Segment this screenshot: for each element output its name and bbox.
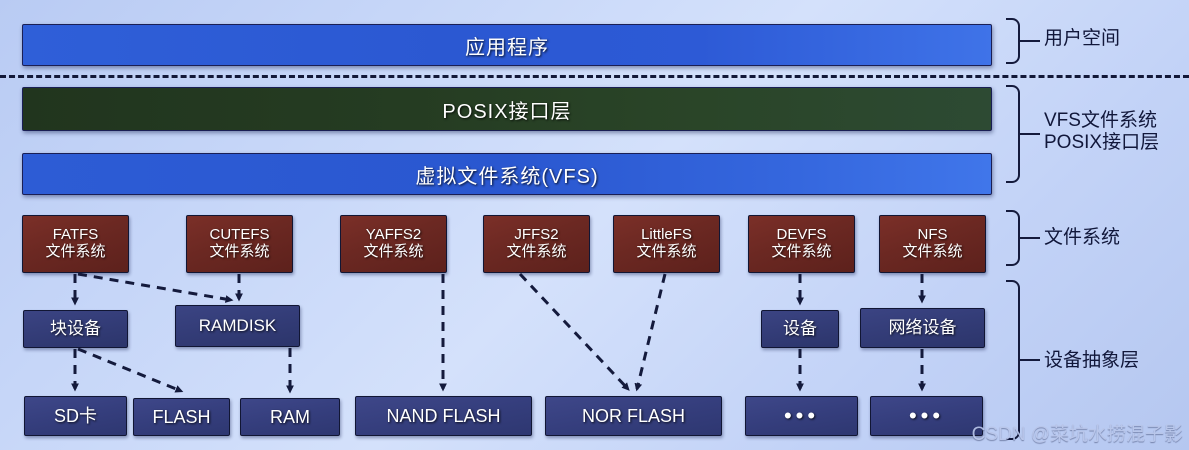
fs-box-littlefs-suffix: 文件系统 — [636, 244, 696, 261]
fs-box-littlefs[interactable]: LittleFS 文件系统 — [613, 215, 720, 273]
caption-user-space: 用户空间 — [1044, 28, 1120, 50]
fs-box-nfs-name: NFS — [918, 227, 948, 244]
bracket-vfs-stem — [1018, 133, 1040, 135]
device-box-block-device-label: 块设备 — [50, 319, 101, 338]
fs-box-devfs[interactable]: DEVFS 文件系统 — [748, 215, 855, 273]
device-box-device-label: 设备 — [783, 319, 817, 338]
hw-box-nor-flash-label: NOR FLASH — [582, 406, 685, 426]
arrow-block-device-to-flash — [78, 349, 181, 391]
device-box-network-device-label: 网络设备 — [889, 318, 957, 337]
diagram-canvas: 应用程序 POSIX接口层 虚拟文件系统(VFS) FATFS 文件系统 CUT… — [0, 0, 1189, 450]
hw-box-more-devices[interactable]: ••• — [745, 396, 858, 436]
caption-device-abstraction: 设备抽象层 — [1044, 350, 1139, 372]
hw-box-flash-label: FLASH — [152, 407, 210, 427]
fs-box-cutefs-suffix: 文件系统 — [209, 244, 269, 261]
hw-box-sd-card-label: SD卡 — [54, 406, 97, 426]
fs-box-devfs-suffix: 文件系统 — [771, 244, 831, 261]
layer-bar-posix[interactable]: POSIX接口层 — [22, 87, 992, 131]
fs-box-yaffs2-suffix: 文件系统 — [363, 244, 423, 261]
fs-box-fatfs-suffix: 文件系统 — [45, 244, 105, 261]
device-box-block-device[interactable]: 块设备 — [23, 310, 128, 348]
fs-box-fatfs[interactable]: FATFS 文件系统 — [22, 215, 129, 273]
fs-box-littlefs-name: LittleFS — [641, 227, 692, 244]
caption-vfs-line2: POSIX接口层 — [1044, 132, 1159, 154]
layer-bar-vfs[interactable]: 虚拟文件系统(VFS) — [22, 153, 992, 195]
fs-box-jffs2[interactable]: JFFS2 文件系统 — [483, 215, 590, 273]
hw-box-nand-flash[interactable]: NAND FLASH — [355, 396, 532, 436]
hw-box-ram-label: RAM — [270, 407, 310, 427]
arrow-jffs2-to-nor-flash — [520, 274, 628, 389]
hw-box-nand-flash-label: NAND FLASH — [386, 406, 500, 426]
layer-bar-application-label: 应用程序 — [465, 31, 549, 60]
fs-box-yaffs2[interactable]: YAFFS2 文件系统 — [340, 215, 447, 273]
layer-bar-posix-label: POSIX接口层 — [442, 95, 571, 124]
arrow-fatfs-to-ramdisk — [78, 274, 231, 300]
bracket-user-space-stem — [1018, 40, 1040, 42]
hw-box-more-devices-label: ••• — [784, 406, 819, 426]
fs-box-cutefs[interactable]: CUTEFS 文件系统 — [186, 215, 293, 273]
layer-bar-vfs-label: 虚拟文件系统(VFS) — [415, 160, 598, 189]
user-kernel-divider — [0, 75, 1189, 78]
hw-box-more-network-devices-label: ••• — [909, 406, 944, 426]
fs-box-devfs-name: DEVFS — [776, 227, 826, 244]
hw-box-flash[interactable]: FLASH — [133, 398, 230, 436]
caption-vfs-line1: VFS文件系统 — [1044, 110, 1159, 132]
hw-box-nor-flash[interactable]: NOR FLASH — [545, 396, 722, 436]
fs-box-fatfs-name: FATFS — [53, 227, 99, 244]
layer-bar-application[interactable]: 应用程序 — [22, 24, 992, 66]
hw-box-ram[interactable]: RAM — [240, 398, 340, 436]
fs-box-jffs2-name: JFFS2 — [514, 227, 558, 244]
fs-box-yaffs2-name: YAFFS2 — [366, 227, 422, 244]
fs-box-nfs-suffix: 文件系统 — [902, 244, 962, 261]
bracket-filesystem-stem — [1018, 237, 1040, 239]
watermark: CSDN @菜坑水捞混子影 — [972, 419, 1183, 446]
bracket-device-abstraction-stem — [1018, 359, 1040, 361]
hw-box-more-network-devices[interactable]: ••• — [870, 396, 983, 436]
device-box-network-device[interactable]: 网络设备 — [860, 308, 985, 348]
caption-filesystem: 文件系统 — [1044, 227, 1120, 249]
fs-box-nfs[interactable]: NFS 文件系统 — [879, 215, 986, 273]
fs-box-jffs2-suffix: 文件系统 — [506, 244, 566, 261]
device-box-ramdisk[interactable]: RAMDISK — [175, 305, 300, 347]
arrow-littlefs-to-nor-flash — [637, 274, 665, 389]
device-box-ramdisk-label: RAMDISK — [199, 316, 276, 335]
fs-box-cutefs-name: CUTEFS — [210, 227, 270, 244]
device-box-device[interactable]: 设备 — [761, 310, 839, 348]
caption-vfs: VFS文件系统 POSIX接口层 — [1044, 110, 1159, 155]
hw-box-sd-card[interactable]: SD卡 — [24, 396, 127, 436]
